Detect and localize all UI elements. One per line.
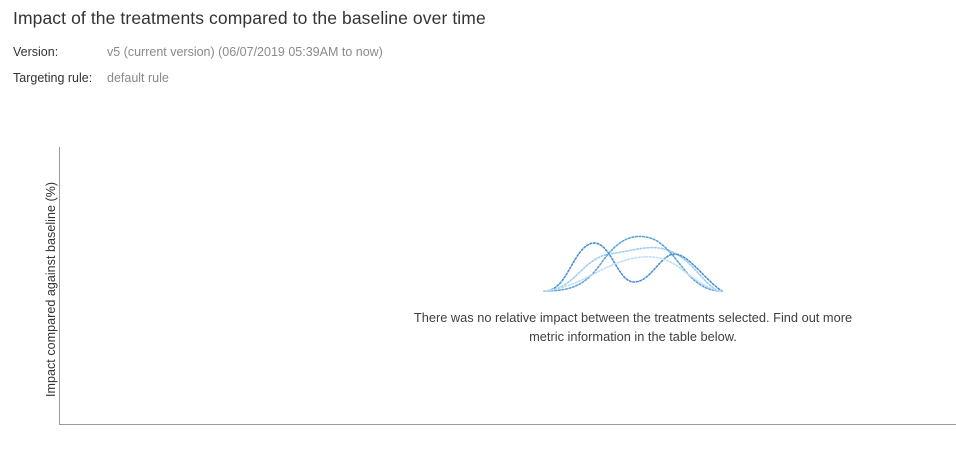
y-axis-line xyxy=(59,147,60,424)
overlapping-bell-curves-icon xyxy=(538,212,728,298)
chart-container: Impact compared against baseline (%) The… xyxy=(0,0,956,457)
chart-empty-state: There was no relative impact between the… xyxy=(398,212,868,346)
empty-state-message: There was no relative impact between the… xyxy=(398,308,868,346)
y-axis-label: Impact compared against baseline (%) xyxy=(44,182,58,397)
empty-state-message-line-2: metric information in the table below. xyxy=(398,327,868,346)
empty-state-message-line-1: There was no relative impact between the… xyxy=(398,308,868,327)
x-axis-line xyxy=(59,424,956,425)
